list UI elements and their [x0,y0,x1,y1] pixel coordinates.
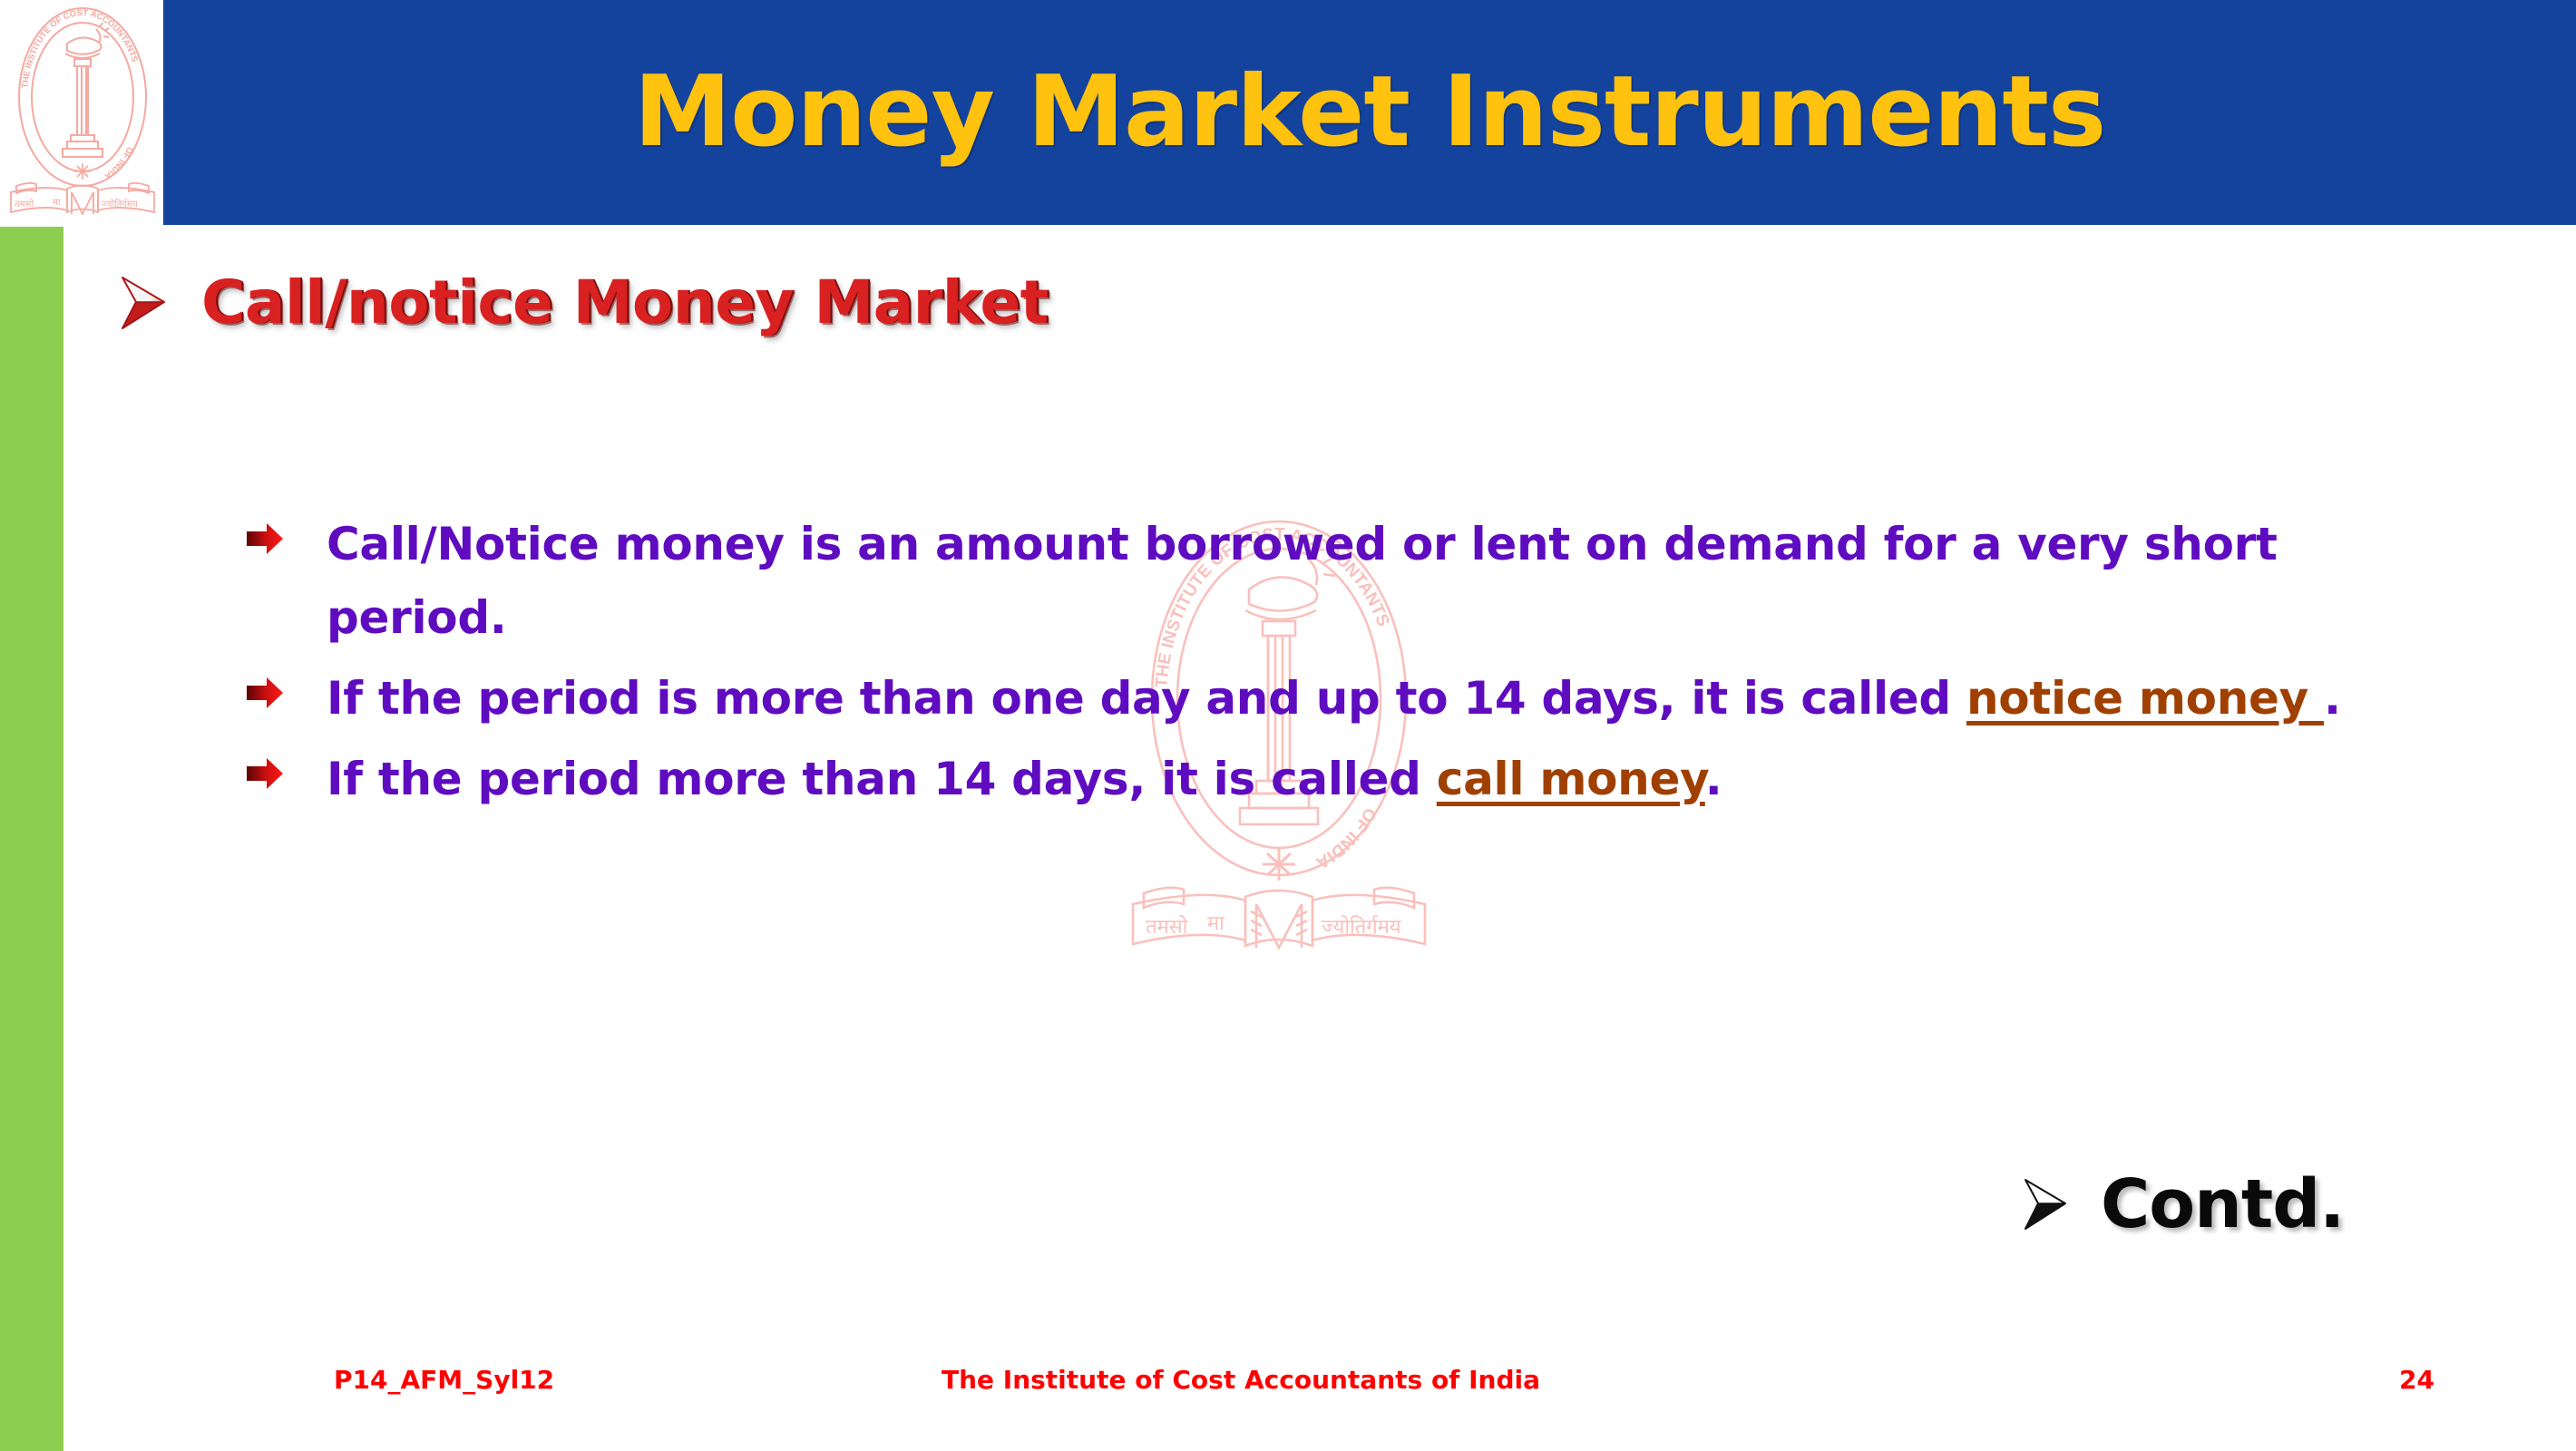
list-item: Call/Notice money is an amount borrowed … [245,508,2358,655]
red-chevron-arrow-bullet-icon [118,274,169,332]
icai-emblem-logo-icon: THE INSTITUTE OF COST ACCOUNTANTS OF IND… [5,2,160,227]
bullet-1-seg-1: Call/Notice money is an amount borrowed … [327,518,2278,644]
body-content: Call/Notice money is an amount borrowed … [245,508,2358,823]
red-right-arrow-bullet-icon [245,755,285,792]
list-item-text: If the period more than 14 days, it is c… [327,743,2358,816]
black-chevron-arrow-bullet-icon [2021,1176,2070,1232]
section-heading: Call/notice Money Market [118,268,1049,337]
list-item: If the period more than 14 days, it is c… [245,743,2358,816]
svg-text:तमसो: तमसो [1146,915,1188,938]
footer-page-number: 24 [2399,1365,2435,1395]
list-item-text: If the period is more than one day and u… [327,662,2358,735]
svg-text:तमसो: तमसो [15,199,34,209]
slide-root: THE INSTITUTE OF COST ACCOUNTANTS OF IND… [0,0,2576,1451]
bullet-2-highlight-notice-money: notice money [1966,672,2324,725]
red-right-arrow-bullet-icon [245,521,285,557]
footer-course-code: P14_AFM_Syl12 [334,1365,554,1395]
bullet-3-seg-3: . [1705,753,1722,805]
svg-text:ज्योतिर्गमय: ज्योतिर्गमय [102,199,138,209]
footer-institute-name: The Institute of Cost Accountants of Ind… [942,1365,1540,1395]
bullet-2-seg-1: If the period is more than one day and u… [327,672,1966,725]
bullet-2-seg-3: . [2324,672,2341,725]
svg-text:मा: मा [1207,911,1225,934]
svg-text:ज्योतिर्गमय: ज्योतिर्गमय [1322,915,1402,938]
contd-marker: Contd. [2021,1165,2344,1243]
svg-text:मा: मा [53,198,61,208]
list-item-text: Call/Notice money is an amount borrowed … [327,508,2358,655]
left-accent-bar [0,227,63,1451]
section-heading-label: Call/notice Money Market [201,268,1049,337]
list-item: If the period is more than one day and u… [245,662,2358,735]
red-right-arrow-bullet-icon [245,675,285,711]
bullet-3-highlight-call-money: call money [1437,753,1705,805]
contd-label: Contd. [2101,1165,2344,1243]
bullet-3-seg-1: If the period more than 14 days, it is c… [327,753,1437,805]
page-title: Money Market Instruments [163,0,2576,225]
